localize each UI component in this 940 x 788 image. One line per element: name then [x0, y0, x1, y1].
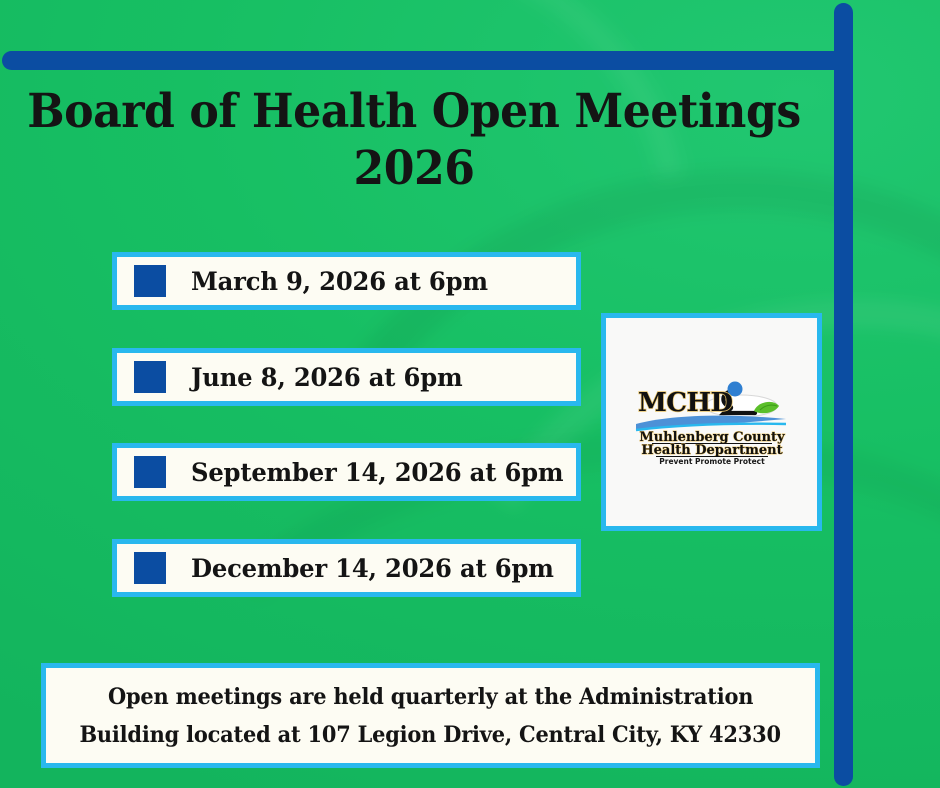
poster-canvas: Board of Health Open Meetings 2026 March… — [0, 0, 940, 788]
meeting-date-label: December 14, 2026 at 6pm — [191, 554, 554, 583]
location-line-2: Building located at 107 Legion Drive, Ce… — [80, 716, 781, 754]
meeting-card[interactable]: June 8, 2026 at 6pm — [112, 348, 581, 406]
logo-panel: MCHD Muhlenberg County Health Department… — [601, 313, 822, 531]
title-line-1: Board of Health Open Meetings — [25, 84, 803, 140]
frame-vertical-bar — [834, 3, 853, 786]
bullet-square-icon — [134, 456, 166, 488]
logo-acronym: MCHD — [638, 388, 733, 418]
location-line-1: Open meetings are held quarterly at the … — [108, 678, 753, 716]
location-info-box: Open meetings are held quarterly at the … — [41, 663, 820, 768]
bullet-square-icon — [134, 265, 166, 297]
frame-horizontal-bar — [2, 51, 848, 70]
title-line-2: 2026 — [25, 140, 803, 198]
mchd-logo: MCHD Muhlenberg County Health Department… — [634, 380, 790, 464]
bullet-square-icon — [134, 552, 166, 584]
logo-org-line-2: Health Department — [641, 443, 782, 458]
meeting-date-label: March 9, 2026 at 6pm — [191, 267, 488, 296]
meeting-date-label: September 14, 2026 at 6pm — [191, 458, 563, 487]
logo-tagline: Prevent Promote Protect — [659, 457, 765, 464]
page-title: Board of Health Open Meetings 2026 — [0, 84, 828, 198]
bullet-square-icon — [134, 361, 166, 393]
meeting-card[interactable]: December 14, 2026 at 6pm — [112, 539, 581, 597]
meeting-card[interactable]: March 9, 2026 at 6pm — [112, 252, 581, 310]
mchd-logo-graphic: MCHD Muhlenberg County Health Department… — [634, 380, 790, 464]
meeting-date-label: June 8, 2026 at 6pm — [191, 363, 462, 392]
meeting-card[interactable]: September 14, 2026 at 6pm — [112, 443, 581, 501]
